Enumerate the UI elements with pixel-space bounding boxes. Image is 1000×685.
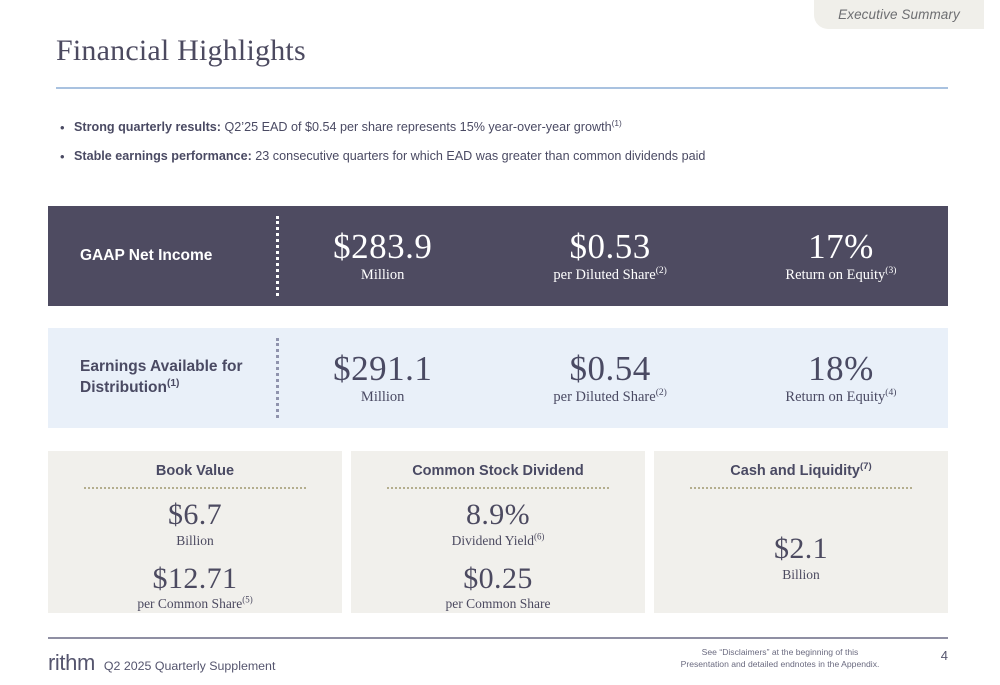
card-title-text: Cash and Liquidity [730, 463, 860, 479]
metric-cell: $0.54 per Diluted Share(2) [486, 350, 734, 406]
bullet-item: • Stable earnings performance: 23 consec… [60, 149, 950, 165]
band-label: GAAP Net Income [48, 206, 276, 306]
rithm-logo: rithm [48, 650, 95, 676]
card-metric-caption-text: per Common Share [446, 596, 551, 611]
card-title-text: Book Value [156, 463, 234, 479]
metric-caption-text: Return on Equity [785, 389, 885, 405]
metric-caption: Million [279, 389, 486, 406]
section-tab-label: Executive Summary [838, 7, 960, 22]
card-metric-value: 8.9% [369, 499, 627, 531]
metric-caption-text: Return on Equity [785, 267, 885, 283]
bullet-list: • Strong quarterly results: Q2’25 EAD of… [60, 120, 950, 179]
metric-cell: $283.9 Million [279, 228, 486, 284]
band-label-text: Earnings Available for Distribution(1) [80, 357, 276, 399]
card-metric: $6.7 Billion [66, 499, 324, 548]
band-label-value: GAAP Net Income [80, 247, 212, 264]
bullet-rest: Q2’25 EAD of $0.54 per share represents … [221, 120, 612, 134]
metric-caption: Return on Equity(4) [734, 389, 948, 406]
footer: rithm Q2 2025 Quarterly Supplement See “… [48, 644, 948, 682]
bullet-text: Stable earnings performance: 23 consecut… [74, 149, 705, 165]
card-title-text: Common Stock Dividend [412, 463, 584, 479]
band-label: Earnings Available for Distribution(1) [48, 328, 276, 428]
card-body: 8.9% Dividend Yield(6) $0.25 per Common … [369, 499, 627, 612]
metric-value: $0.54 [486, 350, 734, 387]
metric-caption: Million [279, 267, 486, 284]
metric-footnote: (2) [656, 265, 667, 276]
card-body: $2.1 Billion [672, 533, 930, 582]
card-metric-caption: per Common Share [369, 596, 627, 612]
metric-band-gaap-net-income: GAAP Net Income $283.9 Million $0.53 per… [48, 206, 948, 306]
card-metric-footnote: (6) [534, 531, 544, 541]
card-divider [690, 487, 912, 489]
metric-cell: $291.1 Million [279, 350, 486, 406]
metric-caption-text: Million [361, 267, 405, 283]
metric-footnote: (3) [885, 265, 896, 276]
band-label-footnote: (1) [167, 378, 180, 389]
metric-footnote: (4) [885, 387, 896, 398]
band-label-text: GAAP Net Income [80, 246, 212, 267]
bullet-rest: 23 consecutive quarters for which EAD wa… [252, 149, 706, 163]
metric-caption: per Diluted Share(2) [486, 389, 734, 406]
footer-brand: rithm Q2 2025 Quarterly Supplement [48, 650, 275, 676]
card-metric-caption-text: Billion [176, 533, 214, 548]
metric-band-earnings-available-for-distribution: Earnings Available for Distribution(1) $… [48, 328, 948, 428]
metric-value: 17% [734, 228, 948, 265]
metric-caption-text: per Diluted Share [553, 389, 655, 405]
card-title: Common Stock Dividend [369, 463, 627, 480]
metric-caption-text: per Diluted Share [553, 267, 655, 283]
page-number: 4 [941, 648, 948, 663]
metric-cell: 17% Return on Equity(3) [734, 228, 948, 284]
card-divider [387, 487, 609, 489]
bullet-footnote: (1) [612, 118, 622, 128]
bullet-text: Strong quarterly results: Q2’25 EAD of $… [74, 120, 622, 136]
card-metric-caption-text: Dividend Yield [452, 533, 534, 548]
footer-disclaimer-note: See “Disclaimers” at the beginning of th… [650, 646, 910, 671]
bullet-marker-icon: • [60, 120, 74, 136]
band-label-value: Earnings Available for Distribution [80, 358, 243, 396]
card-title: Book Value [66, 463, 324, 480]
metric-caption: per Diluted Share(2) [486, 267, 734, 284]
card-metric-value: $6.7 [66, 499, 324, 531]
metric-card-cash-and-liquidity: Cash and Liquidity(7) $2.1 Billion [654, 451, 948, 613]
section-tab-executive-summary[interactable]: Executive Summary [814, 0, 984, 29]
card-metric-caption: Billion [672, 567, 930, 583]
footer-subtitle: Q2 2025 Quarterly Supplement [104, 659, 276, 673]
card-metric-caption: Billion [66, 533, 324, 549]
metric-card-book-value: Book Value $6.7 Billion $12.71 per Commo… [48, 451, 342, 613]
card-metric: 8.9% Dividend Yield(6) [369, 499, 627, 548]
metric-card-common-stock-dividend: Common Stock Dividend 8.9% Dividend Yiel… [351, 451, 645, 613]
metric-cell: 18% Return on Equity(4) [734, 350, 948, 406]
band-metrics: $291.1 Million $0.54 per Diluted Share(2… [279, 328, 948, 428]
card-title-footnote: (7) [860, 461, 872, 472]
card-metric-footnote: (5) [242, 595, 252, 605]
bullet-item: • Strong quarterly results: Q2’25 EAD of… [60, 120, 950, 136]
card-divider [84, 487, 306, 489]
metric-value: $283.9 [279, 228, 486, 265]
card-title: Cash and Liquidity(7) [672, 463, 930, 480]
card-metric-caption-text: per Common Share [137, 596, 242, 611]
card-metric-value: $12.71 [66, 563, 324, 595]
card-metric-value: $2.1 [672, 533, 930, 565]
footer-note-line-1: See “Disclaimers” at the beginning of th… [650, 646, 910, 658]
metric-caption-text: Million [361, 389, 405, 405]
card-metric: $0.25 per Common Share [369, 563, 627, 612]
card-metric-caption: Dividend Yield(6) [369, 533, 627, 549]
card-body: $6.7 Billion $12.71 per Common Share(5) [66, 499, 324, 612]
band-metrics: $283.9 Million $0.53 per Diluted Share(2… [279, 206, 948, 306]
bullet-marker-icon: • [60, 149, 74, 165]
bullet-lead: Strong quarterly results: [74, 120, 221, 134]
card-metric: $12.71 per Common Share(5) [66, 563, 324, 612]
metric-caption: Return on Equity(3) [734, 267, 948, 284]
bullet-lead: Stable earnings performance: [74, 149, 252, 163]
card-metric-caption: per Common Share(5) [66, 596, 324, 612]
title-underline-rule [56, 87, 948, 89]
metric-value: 18% [734, 350, 948, 387]
metric-footnote: (2) [656, 387, 667, 398]
footer-note-line-2: Presentation and detailed endnotes in th… [650, 658, 910, 670]
card-metric: $2.1 Billion [672, 533, 930, 582]
metric-card-row: Book Value $6.7 Billion $12.71 per Commo… [48, 451, 948, 613]
footer-rule [48, 637, 948, 639]
card-metric-value: $0.25 [369, 563, 627, 595]
card-metric-caption-text: Billion [782, 567, 820, 582]
metric-value: $0.53 [486, 228, 734, 265]
page-title: Financial Highlights [56, 34, 306, 68]
metric-cell: $0.53 per Diluted Share(2) [486, 228, 734, 284]
metric-value: $291.1 [279, 350, 486, 387]
